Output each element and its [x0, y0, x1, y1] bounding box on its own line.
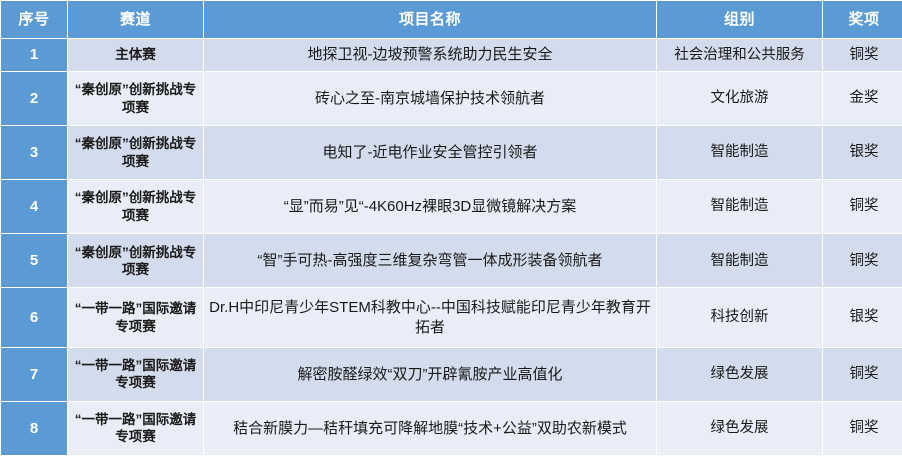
cell-index: 8 — [1, 402, 67, 455]
cell-award: 铜奖 — [823, 402, 902, 455]
cell-track: “一带一路”国际邀请专项赛 — [68, 402, 203, 455]
cell-project: 解密胺醛绿效“双刀”开辟氰胺产业高值化 — [204, 348, 656, 401]
cell-index: 6 — [1, 288, 67, 346]
table-row: 6 “一带一路”国际邀请专项赛 Dr.H中印尼青少年STEM科教中心--中国科技… — [1, 288, 902, 346]
cell-group: 文化旅游 — [657, 72, 822, 125]
cell-project: 电知了-近电作业安全管控引领者 — [204, 126, 656, 179]
column-header-project: 项目名称 — [204, 1, 656, 38]
table-row: 1 主体赛 地探卫视-边坡预警系统助力民生安全 社会治理和公共服务 铜奖 — [1, 39, 902, 71]
cell-award: 金奖 — [823, 72, 902, 125]
cell-group: 智能制造 — [657, 126, 822, 179]
cell-project: 砖心之至-南京城墙保护技术领航者 — [204, 72, 656, 125]
cell-award: 银奖 — [823, 126, 902, 179]
column-header-group: 组别 — [657, 1, 822, 38]
cell-project: 地探卫视-边坡预警系统助力民生安全 — [204, 39, 656, 71]
cell-track: “秦创原”创新挑战专项赛 — [68, 126, 203, 179]
cell-award: 银奖 — [823, 288, 902, 346]
cell-track: “秦创原”创新挑战专项赛 — [68, 180, 203, 233]
table-row: 3 “秦创原”创新挑战专项赛 电知了-近电作业安全管控引领者 智能制造 银奖 — [1, 126, 902, 179]
cell-project: 秸合新膜力—秸秆填充可降解地膜“技术+公益”双助农新模式 — [204, 402, 656, 455]
table-row: 4 “秦创原”创新挑战专项赛 “显”而易”见“-4K60Hz裸眼3D显微镜解决方… — [1, 180, 902, 233]
cell-project: “智”手可热-高强度三维复杂弯管一体成形装备领航者 — [204, 234, 656, 287]
cell-track: “秦创原”创新挑战专项赛 — [68, 234, 203, 287]
cell-award: 铜奖 — [823, 234, 902, 287]
table-body: 1 主体赛 地探卫视-边坡预警系统助力民生安全 社会治理和公共服务 铜奖 2 “… — [1, 39, 902, 455]
cell-track: “秦创原”创新挑战专项赛 — [68, 72, 203, 125]
cell-track: “一带一路”国际邀请专项赛 — [68, 288, 203, 346]
cell-project: “显”而易”见“-4K60Hz裸眼3D显微镜解决方案 — [204, 180, 656, 233]
cell-award: 铜奖 — [823, 180, 902, 233]
cell-index: 5 — [1, 234, 67, 287]
cell-award: 铜奖 — [823, 39, 902, 71]
cell-index: 1 — [1, 39, 67, 71]
cell-group: 智能制造 — [657, 234, 822, 287]
cell-index: 2 — [1, 72, 67, 125]
cell-award: 铜奖 — [823, 348, 902, 401]
table-row: 2 “秦创原”创新挑战专项赛 砖心之至-南京城墙保护技术领航者 文化旅游 金奖 — [1, 72, 902, 125]
column-header-award: 奖项 — [823, 1, 902, 38]
column-header-track: 赛道 — [68, 1, 203, 38]
table-row: 7 “一带一路”国际邀请专项赛 解密胺醛绿效“双刀”开辟氰胺产业高值化 绿色发展… — [1, 348, 902, 401]
cell-group: 绿色发展 — [657, 348, 822, 401]
table-header: 序号 赛道 项目名称 组别 奖项 — [1, 1, 902, 38]
cell-project: Dr.H中印尼青少年STEM科教中心--中国科技赋能印尼青少年教育开拓者 — [204, 288, 656, 346]
table-row: 5 “秦创原”创新挑战专项赛 “智”手可热-高强度三维复杂弯管一体成形装备领航者… — [1, 234, 902, 287]
cell-track: “一带一路”国际邀请专项赛 — [68, 348, 203, 401]
cell-index: 4 — [1, 180, 67, 233]
cell-index: 3 — [1, 126, 67, 179]
table-header-row: 序号 赛道 项目名称 组别 奖项 — [1, 1, 902, 38]
cell-group: 科技创新 — [657, 288, 822, 346]
cell-group: 绿色发展 — [657, 402, 822, 455]
cell-index: 7 — [1, 348, 67, 401]
cell-group: 智能制造 — [657, 180, 822, 233]
column-header-index: 序号 — [1, 1, 67, 38]
cell-group: 社会治理和公共服务 — [657, 39, 822, 71]
award-results-table: 序号 赛道 项目名称 组别 奖项 1 主体赛 地探卫视-边坡预警系统助力民生安全… — [0, 0, 902, 456]
cell-track: 主体赛 — [68, 39, 203, 71]
table-row: 8 “一带一路”国际邀请专项赛 秸合新膜力—秸秆填充可降解地膜“技术+公益”双助… — [1, 402, 902, 455]
